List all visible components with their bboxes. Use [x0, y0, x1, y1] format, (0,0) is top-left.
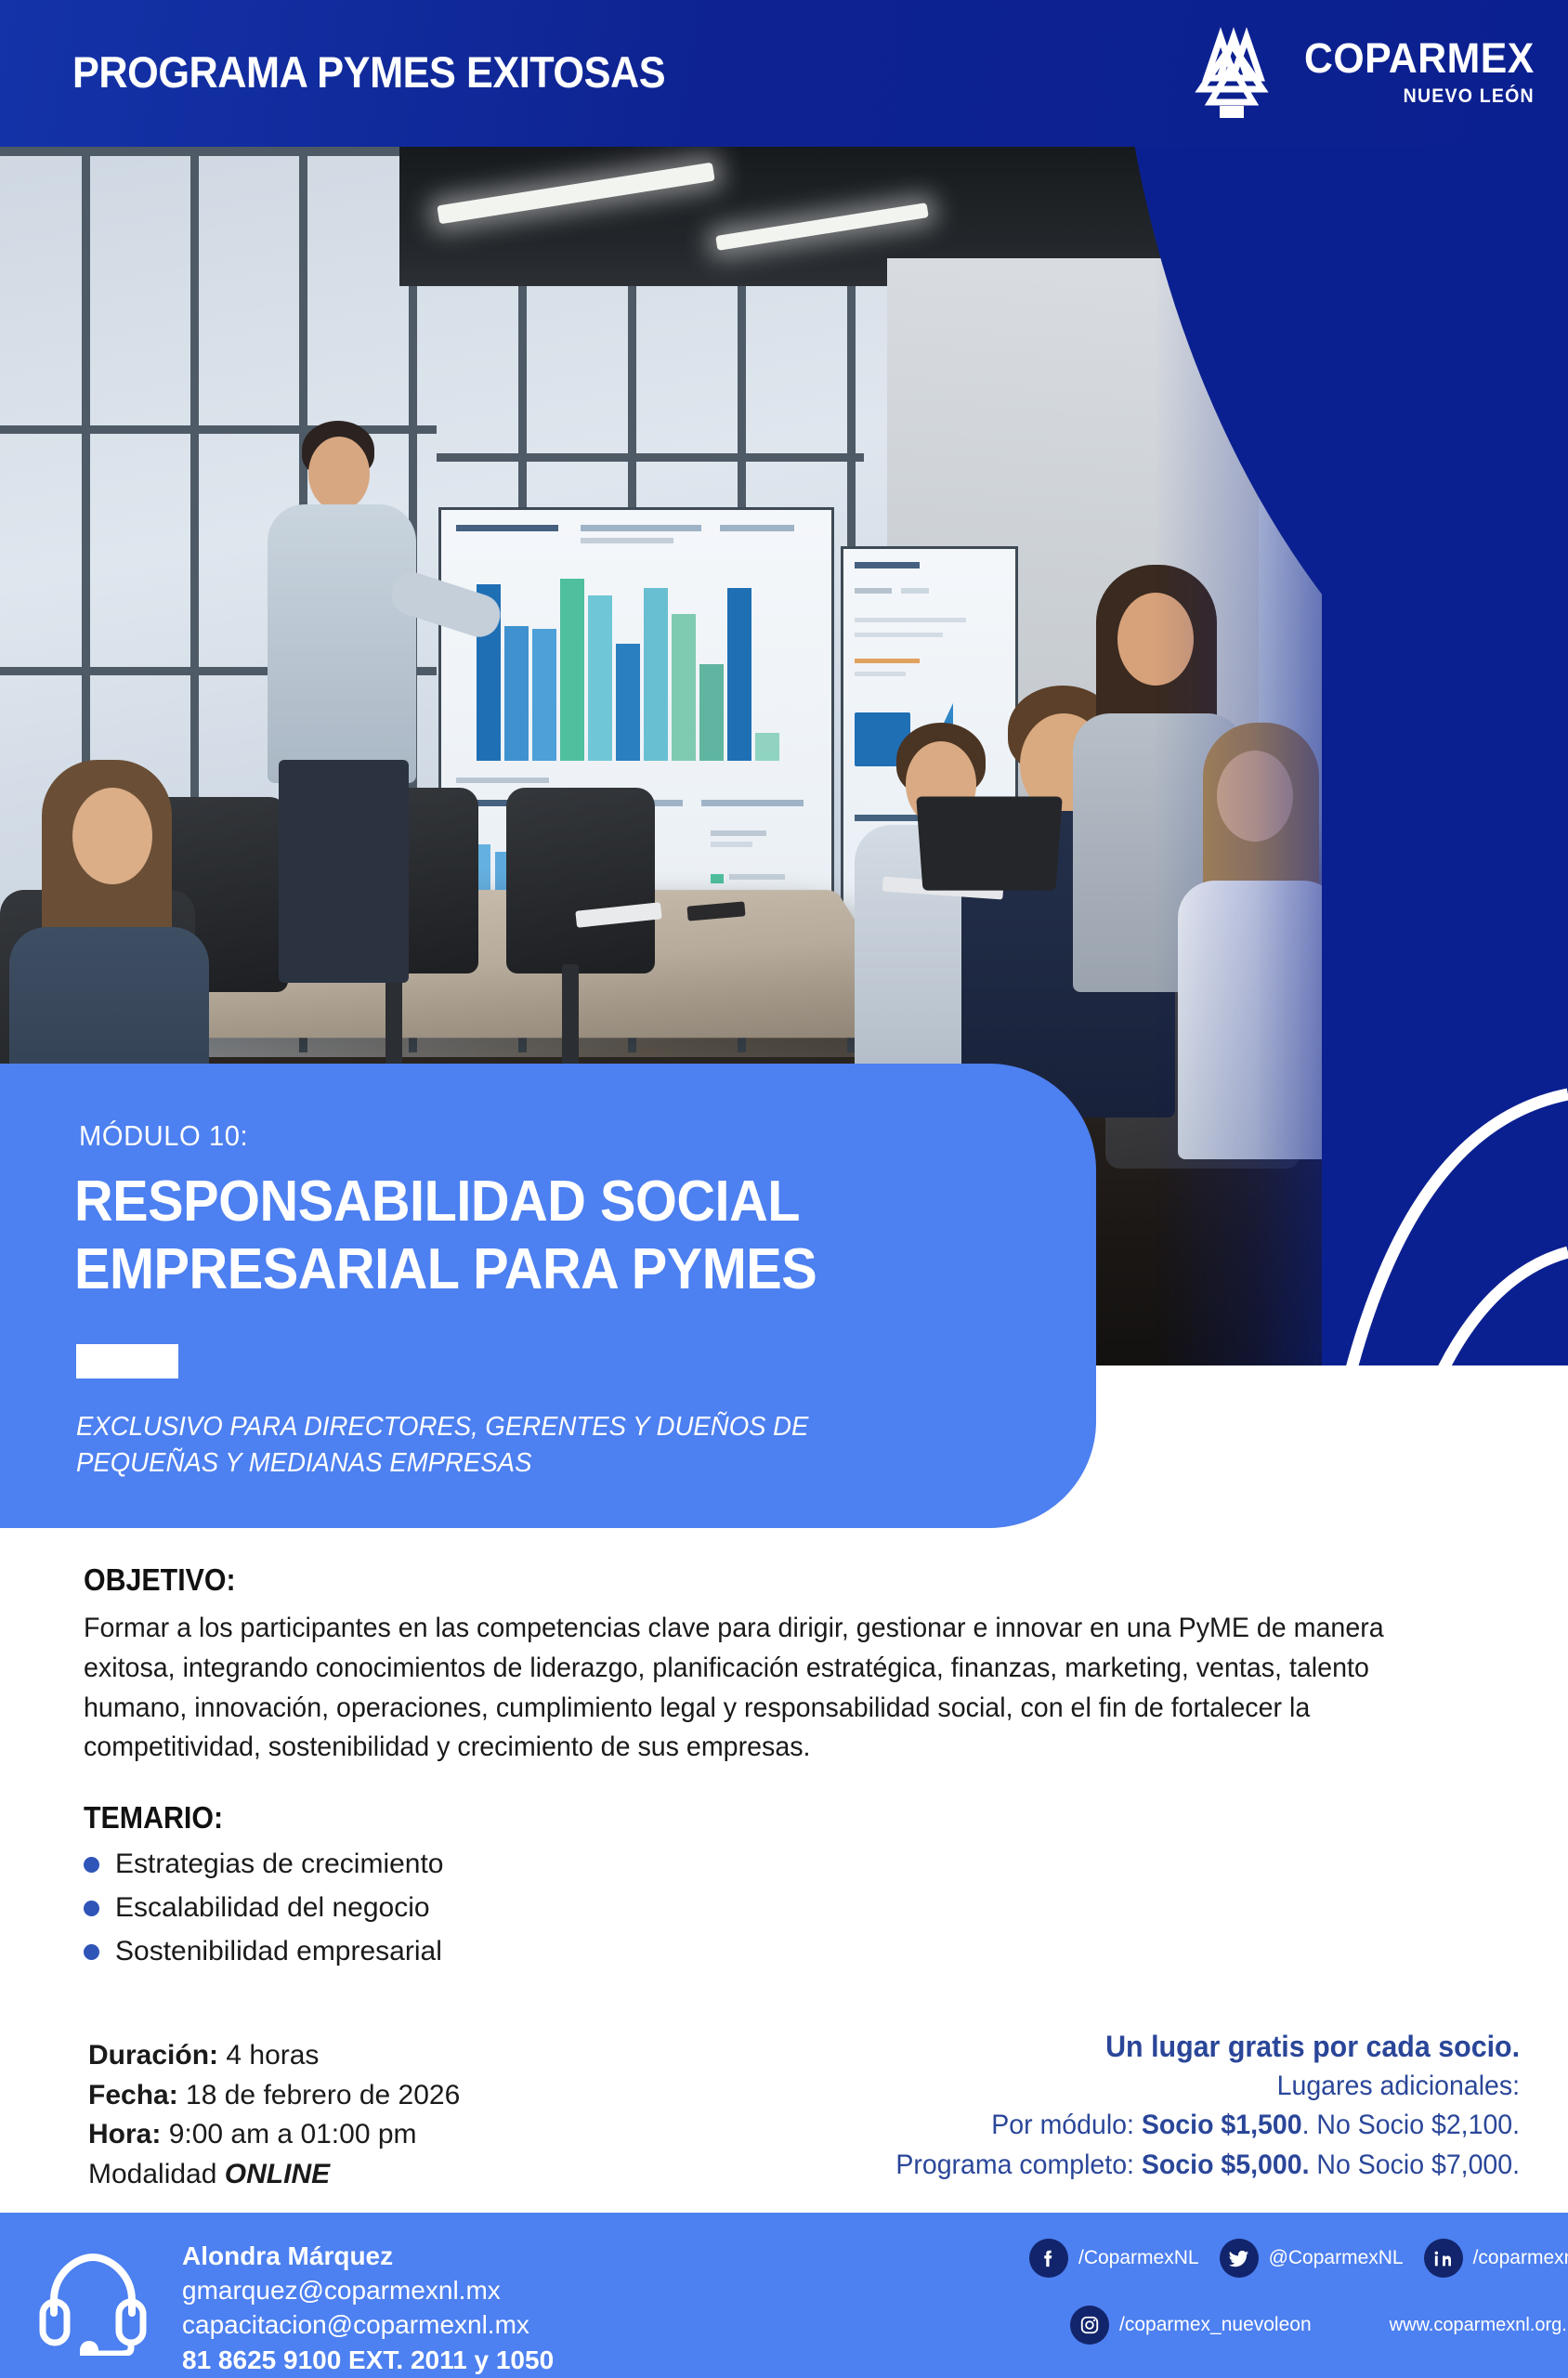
social-links: /CoparmexNL @CoparmexNL /coparmexnl — [1029, 2239, 1549, 2345]
detail-fecha: Fecha: 18 de febrero de 2026 — [88, 2076, 460, 2116]
hora-value: 9:00 am a 01:00 pm — [169, 2119, 417, 2149]
social-link-facebook[interactable]: /CoparmexNL — [1029, 2239, 1199, 2278]
contact-email-2[interactable]: capacitacion@coparmexnl.mx — [182, 2307, 554, 2342]
poster-root: PROGRAMA PYMES EXITOSAS COPARMEX NUEVO L… — [0, 0, 1568, 2378]
website-url[interactable]: www.coparmexnl.org.mx — [1390, 2315, 1568, 2336]
pricing-module-nosocio: . No Socio $2,100. — [1302, 2110, 1520, 2140]
pricing-module-socio: Socio $1,500 — [1142, 2110, 1302, 2140]
pricing-program-nosocio: No Socio $7,000. — [1309, 2149, 1520, 2180]
pricing-lead: Un lugar gratis por cada socio. — [895, 2027, 1520, 2067]
linkedin-icon — [1424, 2239, 1463, 2278]
pricing-program-prefix: Programa completo: — [895, 2149, 1142, 2180]
contact-name: Alondra Márquez — [182, 2239, 554, 2273]
program-title: PROGRAMA PYMES EXITOSAS — [72, 46, 665, 98]
detail-hora: Hora: 9:00 am a 01:00 pm — [88, 2115, 460, 2155]
audience-note: EXCLUSIVO PARA DIRECTORES, GERENTES Y DU… — [76, 1409, 959, 1483]
white-divider-chip — [76, 1344, 178, 1378]
bullet-dot-icon — [84, 1944, 99, 1960]
coparmex-pyramid-logo-icon — [1192, 20, 1272, 124]
temario-heading: TEMARIO: — [84, 1800, 223, 1836]
modalidad-label: Modalidad — [88, 2159, 216, 2189]
brand-lockup: COPARMEX NUEVO LEÓN — [1192, 20, 1535, 124]
footer-bar: Alondra Márquez gmarquez@coparmexnl.mx c… — [0, 2213, 1568, 2378]
list-item: Estrategias de crecimiento — [84, 1849, 444, 1880]
contact-block: Alondra Márquez gmarquez@coparmexnl.mx c… — [182, 2239, 554, 2377]
module-title-line-2: EMPRESARIAL PARA PYMES — [74, 1235, 990, 1303]
header-bar: PROGRAMA PYMES EXITOSAS COPARMEX NUEVO L… — [0, 0, 1568, 147]
objetivo-body: Formar a los participantes en las compet… — [84, 1609, 1471, 1768]
pricing-module-prefix: Por módulo: — [991, 2110, 1142, 2140]
temario-item-label: Sostenibilidad empresarial — [115, 1936, 442, 1967]
temario-item-label: Escalabilidad del negocio — [115, 1892, 430, 1924]
module-title-card: MÓDULO 10: RESPONSABILIDAD SOCIAL EMPRES… — [0, 1064, 1096, 1528]
module-label: MÓDULO 10: — [79, 1119, 248, 1153]
pricing-block: Un lugar gratis por cada socio. Lugares … — [863, 2027, 1520, 2185]
audience-line-2: PEQUEÑAS Y MEDIANAS EMPRESAS — [76, 1445, 959, 1482]
list-item: Sostenibilidad empresarial — [84, 1936, 444, 1967]
contact-email-1[interactable]: gmarquez@coparmexnl.mx — [182, 2273, 554, 2307]
hora-label: Hora: — [88, 2119, 161, 2149]
social-link-linkedin[interactable]: /coparmexnl — [1424, 2239, 1568, 2278]
pricing-program-row: Programa completo: Socio $5,000. No Soci… — [895, 2146, 1520, 2186]
instagram-handle: /coparmex_nuevoleon — [1119, 2314, 1312, 2336]
social-link-instagram[interactable]: /coparmex_nuevoleon — [1070, 2306, 1312, 2345]
instagram-icon — [1070, 2306, 1109, 2345]
modalidad-value: ONLINE — [225, 2159, 330, 2189]
detail-modalidad: Modalidad ONLINE — [88, 2155, 460, 2195]
duracion-label: Duración: — [88, 2040, 218, 2071]
twitter-icon — [1220, 2239, 1259, 2278]
detail-duracion: Duración: 4 horas — [88, 2036, 460, 2076]
pricing-module-row: Por módulo: Socio $1,500. No Socio $2,10… — [895, 2106, 1520, 2146]
module-title-line-1: RESPONSABILIDAD SOCIAL — [74, 1168, 990, 1235]
bullet-dot-icon — [84, 1901, 99, 1916]
temario-item-label: Estrategias de crecimiento — [115, 1849, 444, 1880]
linkedin-handle: /coparmexnl — [1473, 2247, 1568, 2269]
facebook-handle: /CoparmexNL — [1078, 2247, 1199, 2269]
brand-name: COPARMEX — [1304, 37, 1535, 79]
fecha-value: 18 de febrero de 2026 — [186, 2080, 460, 2110]
audience-line-1: EXCLUSIVO PARA DIRECTORES, GERENTES Y DU… — [76, 1409, 959, 1445]
fecha-label: Fecha: — [88, 2080, 178, 2110]
session-details: Duración: 4 horas Fecha: 18 de febrero d… — [88, 2036, 460, 2194]
twitter-handle: @CoparmexNL — [1269, 2247, 1404, 2269]
pricing-sub: Lugares adicionales: — [895, 2067, 1520, 2106]
facebook-icon — [1029, 2239, 1068, 2278]
temario-list: Estrategias de crecimiento Escalabilidad… — [84, 1849, 444, 1979]
headset-support-icon — [37, 2244, 149, 2356]
brand-subtitle: NUEVO LEÓN — [1404, 85, 1535, 108]
social-link-twitter[interactable]: @CoparmexNL — [1220, 2239, 1404, 2278]
pricing-program-socio: Socio $5,000. — [1142, 2149, 1310, 2180]
list-item: Escalabilidad del negocio — [84, 1892, 444, 1924]
objetivo-heading: OBJETIVO: — [84, 1562, 236, 1598]
module-title: RESPONSABILIDAD SOCIAL EMPRESARIAL PARA … — [74, 1168, 990, 1303]
bullet-dot-icon — [84, 1857, 99, 1873]
duracion-value: 4 horas — [226, 2040, 319, 2071]
contact-phone[interactable]: 81 8625 9100 EXT. 2011 y 1050 — [182, 2343, 554, 2377]
